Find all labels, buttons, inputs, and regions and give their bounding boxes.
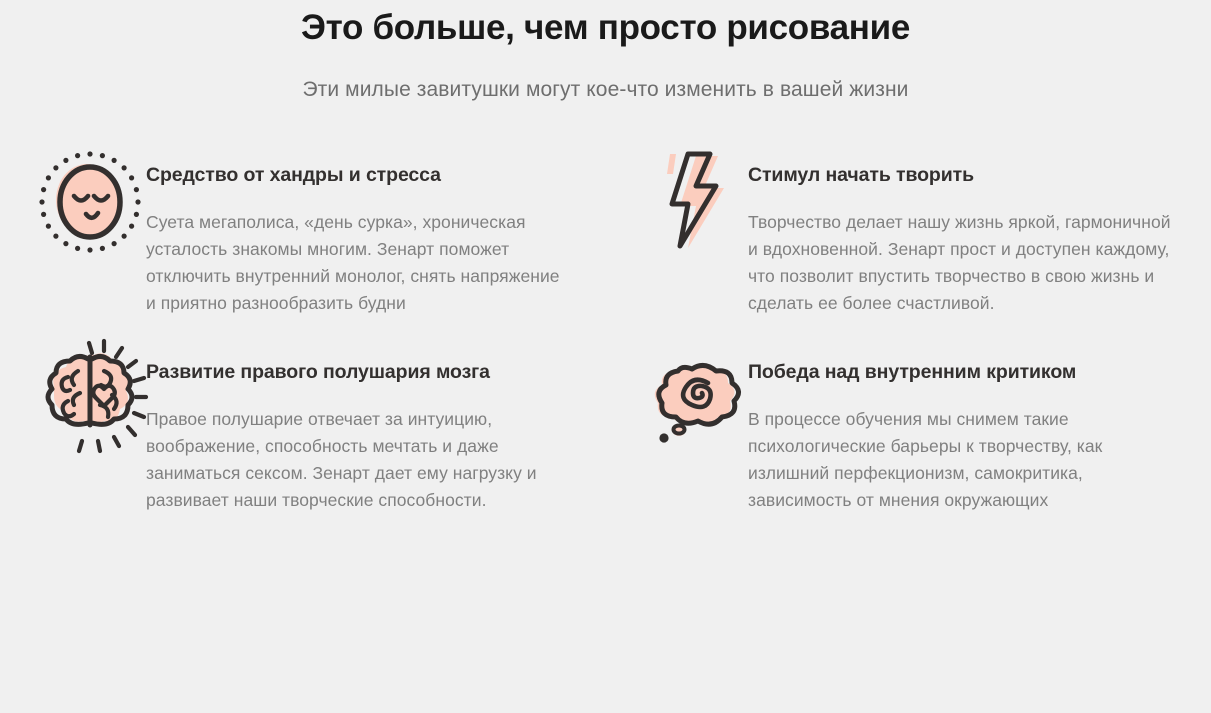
- benefit-card-stress-relief: Средство от хандры и стресса Суета мегап…: [0, 146, 600, 317]
- card-title: Стимул начать творить: [748, 158, 1178, 192]
- card-title: Развитие правого полушария мозга: [146, 355, 566, 389]
- card-body: Победа над внутренним критиком В процесс…: [748, 343, 1178, 514]
- section-header: Это больше, чем просто рисование Эти мил…: [0, 0, 1211, 104]
- card-title: Победа над внутренним критиком: [748, 355, 1178, 389]
- card-row: Средство от хандры и стресса Суета мегап…: [0, 146, 1211, 317]
- page-title: Это больше, чем просто рисование: [0, 0, 1211, 50]
- card-body: Средство от хандры и стресса Суета мегап…: [146, 146, 566, 317]
- benefits-section: Это больше, чем просто рисование Эти мил…: [0, 0, 1211, 713]
- card-title: Средство от хандры и стресса: [146, 158, 566, 192]
- thought-cloud-icon: [652, 343, 748, 455]
- benefit-card-right-brain: Развитие правого полушария мозга Правое …: [0, 343, 600, 514]
- card-body: Стимул начать творить Творчество делает …: [748, 146, 1178, 317]
- benefit-card-inner-critic: Победа над внутренним критиком В процесс…: [600, 343, 1211, 514]
- benefit-card-grid: Средство от хандры и стресса Суета мегап…: [0, 146, 1211, 514]
- sleeping-face-icon: [34, 146, 146, 258]
- card-text: Творчество делает нашу жизнь яркой, гарм…: [748, 192, 1178, 317]
- benefit-card-creative-impulse: Стимул начать творить Творчество делает …: [600, 146, 1211, 317]
- card-text: В процессе обучения мы снимем такие псих…: [748, 389, 1178, 514]
- brain-icon: [34, 343, 146, 455]
- card-body: Развитие правого полушария мозга Правое …: [146, 343, 566, 514]
- card-row: Развитие правого полушария мозга Правое …: [0, 343, 1211, 514]
- lightning-bolt-icon: [652, 146, 748, 258]
- page-subtitle: Эти милые завитушки могут кое-что измени…: [0, 50, 1211, 104]
- card-text: Правое полушарие отвечает за интуицию, в…: [146, 389, 566, 514]
- card-text: Суета мегаполиса, «день сурка», хроничес…: [146, 192, 566, 317]
